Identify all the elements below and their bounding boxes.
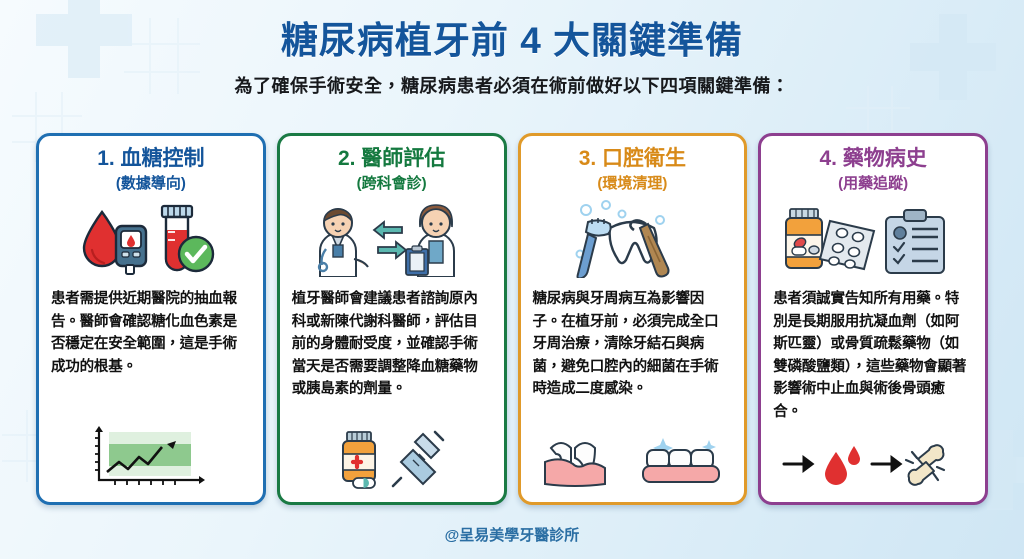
clipboard-checklist-icon [886,210,944,273]
footer-credit: @呈易美學牙醫診所 [0,524,1024,545]
card-title: 1. 血糖控制 [97,146,204,172]
card-footer-icons [51,424,251,494]
card-doctor-evaluation[interactable]: 2. 醫師評估 (跨科會診) [277,133,507,505]
card-subtitle: (環境清理) [597,173,667,194]
blood-drop-icon [825,446,860,485]
page-title: 糖尿病植牙前 4 大關鍵準備 [0,18,1024,64]
card-subtitle: (數據導向) [116,173,186,194]
medicine-bottle-icon [343,432,375,488]
doctors-consult-icon-group [302,201,482,277]
card-footer-icons [533,424,733,494]
page-subtitle: 為了確保手術安全，糖尿病患者必須在術前做好以下四項關鍵準備： [0,72,1024,98]
medication-history-icon-group [780,203,966,275]
blood-drop-icon [84,212,120,266]
clipboard-icon [406,246,428,275]
card-body-text: 糖尿病與牙周病互為影響因子。在植牙前，必須完成全口牙周治療，清除牙結石與病菌，避… [533,288,733,401]
medication-icons [327,428,457,490]
card-subtitle: (跨科會診) [357,173,427,194]
card-icons [562,200,702,278]
exchange-arrows-icon [374,222,406,258]
line-chart-icon [81,424,221,490]
oral-hygiene-icon-group [562,200,702,278]
card-title: 3. 口腔衛生 [579,146,686,172]
toothbrush-icon [578,218,611,278]
card-footer-icons [292,424,492,494]
card-medication-history[interactable]: 4. 藥物病史 (用藥追蹤) [758,133,988,505]
healthy-gums-icon [643,450,719,482]
pill-bottle-icon [786,209,822,268]
blood-sugar-icon-group [76,202,226,276]
card-title: 2. 醫師評估 [338,146,445,172]
card-icons [780,200,966,278]
receding-gums-icon [545,443,605,486]
gums-comparison-icons [537,428,727,490]
infographic-canvas: 糖尿病植牙前 4 大關鍵準備 為了確保手術安全，糖尿病患者必須在術前做好以下四項… [0,0,1024,559]
card-body-text: 植牙醫師會建議患者諮詢原內科或新陳代謝科醫師，評估目前的身體耐受度，並確認手術當… [292,288,492,401]
card-footer-icons [773,424,973,494]
bleeding-bone-healing-icons [778,438,968,490]
card-blood-sugar-control[interactable]: 1. 血糖控制 (數據導向) [36,133,266,505]
card-icons [76,200,226,278]
blister-pack-icon [820,221,874,269]
card-icons [302,200,482,278]
male-doctor-icon [319,209,368,277]
card-body-text: 患者需提供近期醫院的抽血報告。醫師會確認糖化血色素是否穩定在安全範圍，這是手術成… [51,288,251,378]
green-check-icon [179,237,213,271]
card-title: 4. 藥物病史 [819,146,926,172]
card-body-text: 患者須誠實告知所有用藥。特別是長期服用抗凝血劑（如阿斯匹靈）或骨質疏鬆藥物（如雙… [773,288,973,423]
broken-bone-icon [906,445,944,485]
header: 糖尿病植牙前 4 大關鍵準備 為了確保手術安全，糖尿病患者必須在術前做好以下四項… [0,18,1024,98]
card-subtitle: (用藥追蹤) [838,173,908,194]
female-doctor-icon [406,205,454,277]
glucose-meter-icon [116,226,146,274]
syringe-icon [393,432,443,486]
cards-container: 1. 血糖控制 (數據導向) [36,133,988,505]
card-oral-hygiene[interactable]: 3. 口腔衛生 (環境清理) [518,133,748,505]
